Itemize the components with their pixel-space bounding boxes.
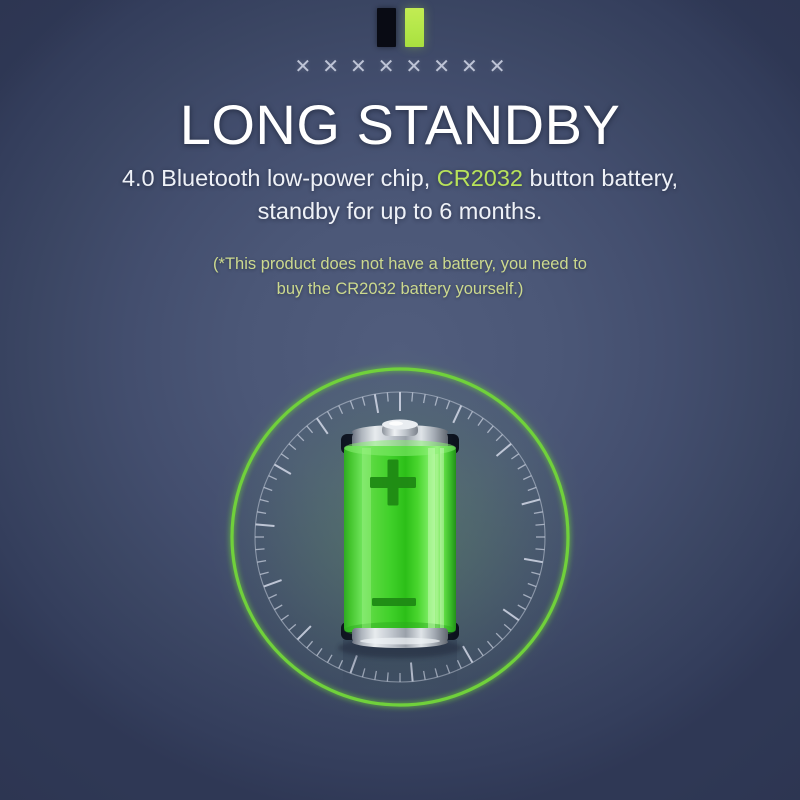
gauge-tick-minor: [387, 393, 388, 402]
gauge-tick-minor: [256, 549, 265, 550]
battery-gauge-illustration: [0, 0, 800, 800]
gauge-tick-minor: [412, 393, 413, 402]
gauge-tick-minor: [535, 549, 544, 550]
battery-minus-symbol: [372, 598, 416, 606]
long-standby-poster: ✕ ✕ ✕ ✕ ✕ ✕ ✕ ✕ LONG STANDBY 4.0 Bluetoo…: [0, 0, 800, 800]
battery-graphic: [338, 420, 462, 689]
gauge-tick-minor: [535, 524, 544, 525]
